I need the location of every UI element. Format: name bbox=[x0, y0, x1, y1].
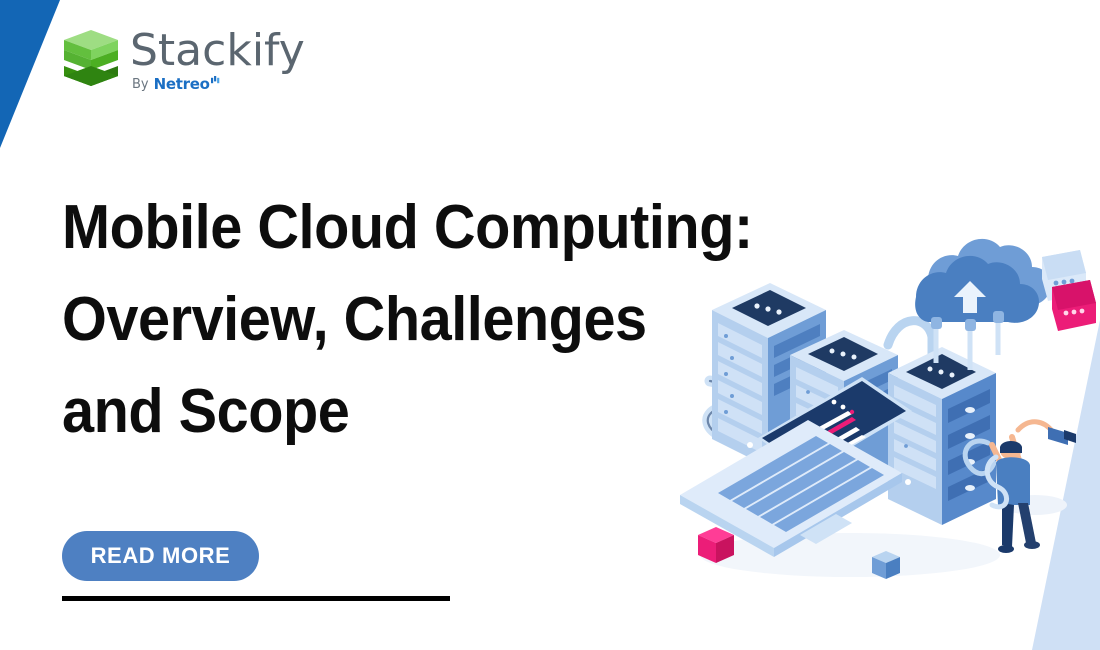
cube-blue bbox=[872, 551, 900, 579]
isometric-scene bbox=[640, 205, 1100, 615]
netreo-wordmark: Netreo bbox=[154, 75, 220, 93]
chat-bubble-pink bbox=[1052, 280, 1096, 331]
title-underline-divider bbox=[62, 596, 450, 601]
promo-banner: Stackify By Netreo Mobile Cloud Computin… bbox=[0, 0, 1100, 650]
rack-connector-cable bbox=[888, 321, 932, 357]
top-left-accent-wedge bbox=[0, 0, 60, 148]
logo-text-group: Stackify By Netreo bbox=[130, 28, 305, 93]
netreo-label: Netreo bbox=[154, 75, 210, 93]
stackify-logo[interactable]: Stackify By Netreo bbox=[62, 28, 305, 98]
logo-parent-brand-line: By Netreo bbox=[132, 75, 220, 93]
read-more-button[interactable]: READ MORE bbox=[62, 531, 259, 581]
logo-by-label: By bbox=[132, 77, 149, 92]
cloud-computing-illustration bbox=[640, 205, 1100, 615]
stackify-wordmark: Stackify bbox=[130, 28, 305, 74]
stackify-s-mark-icon bbox=[62, 28, 120, 98]
netreo-tick-icon bbox=[211, 76, 220, 85]
server-rack-right bbox=[888, 347, 996, 525]
cloud-upload-icon bbox=[915, 239, 1051, 323]
